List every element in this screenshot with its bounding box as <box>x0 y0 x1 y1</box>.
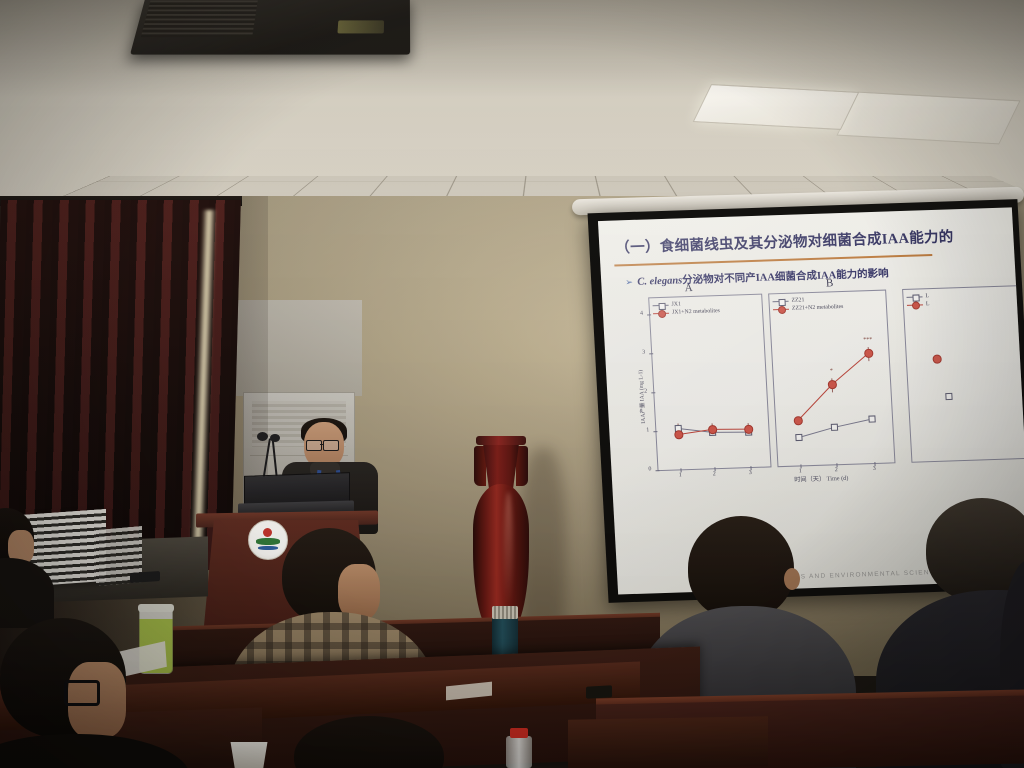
vase-lip <box>476 436 526 445</box>
legend-label: ZZ21+N2 metabolites <box>792 303 844 313</box>
data-point-circle <box>744 425 753 434</box>
x-tick-label: 2 <box>713 471 716 477</box>
open-square-icon <box>658 302 665 309</box>
data-point-circle <box>828 380 837 389</box>
data-point-square <box>831 424 838 431</box>
panel-c-legend: L L <box>906 292 929 309</box>
bottle-cap <box>510 728 528 738</box>
ear <box>784 568 800 590</box>
panel-c-plot-area <box>902 285 1024 463</box>
y-tick-label: 3 <box>642 350 645 356</box>
legend-line-filled-circle <box>653 312 669 314</box>
significance-marker: *** <box>863 337 872 343</box>
data-point-square <box>795 434 802 441</box>
legend-line-filled-circle <box>907 304 923 306</box>
slide-title: （一）食细菌线虫及其分泌物对细菌合成IAA能力的 <box>615 223 1020 257</box>
chart-panels: A 0 1 2 3 4 <box>618 285 1024 528</box>
data-point-circle <box>794 416 803 425</box>
audience-member-glasses-foreground <box>0 618 170 768</box>
legend-label: L <box>926 300 930 308</box>
device-on-bench[interactable] <box>586 685 612 698</box>
chart-panel-c: L L <box>900 285 1024 475</box>
panel-b-x-axis-label: 时间（天） Time (d) <box>794 473 849 484</box>
conference-room-photo: （一）食细菌线虫及其分泌物对细菌合成IAA能力的 ➢ C. elegans分泌物… <box>0 0 1024 768</box>
y-tick-label: 0 <box>648 466 651 472</box>
glasses-icon <box>323 440 339 451</box>
data-point-circle <box>864 349 873 358</box>
filled-circle-icon <box>778 306 786 314</box>
water-bottle[interactable] <box>506 736 532 768</box>
legend-line-filled-circle <box>773 308 789 310</box>
head <box>294 716 444 768</box>
glasses-icon <box>64 680 100 706</box>
filled-circle-icon <box>912 301 920 309</box>
projector-vent <box>141 1 258 38</box>
legend-line-open-square <box>773 300 789 302</box>
open-square-icon <box>778 298 785 305</box>
panel-a-legend: JX1 JX1+N2 metabolites <box>652 299 720 317</box>
x-tick-label: 1 <box>679 472 682 478</box>
shoulders <box>0 734 190 768</box>
panel-a-y-axis-label: IAA产量 IAA (mg L-1) <box>636 370 647 424</box>
data-point-circle <box>932 354 941 363</box>
data-point-square <box>868 415 875 422</box>
x-tick-label: 3 <box>873 466 876 472</box>
x-tick-label: 3 <box>749 470 752 476</box>
glasses-icon <box>306 440 322 451</box>
filled-circle-icon <box>658 310 666 318</box>
thermos-cap <box>492 606 518 619</box>
chart-panel-b: B 1 2 3 <box>766 289 904 479</box>
chair-back-right <box>568 716 768 768</box>
legend-label: JX1+N2 metabolites <box>672 307 720 317</box>
y-tick <box>656 470 660 471</box>
projector-lens <box>337 20 384 33</box>
panel-b-legend: ZZ21 ZZ21+N2 metabolites <box>772 295 843 313</box>
device-on-desk[interactable] <box>130 571 160 583</box>
significance-marker: * <box>830 368 833 374</box>
glasses-bridge <box>320 444 324 445</box>
legend-line-open-square <box>906 296 922 298</box>
data-point-circle <box>708 425 717 434</box>
open-square-icon <box>912 294 919 301</box>
ceiling-projector <box>130 0 410 55</box>
legend-label: L <box>925 292 929 300</box>
panel-a-plot-area: 0 1 2 3 4 1 2 3 <box>648 294 771 472</box>
y-tick-label: 4 <box>640 311 643 317</box>
data-point-circle <box>674 430 683 439</box>
panel-b-plot-area: 1 2 3 <box>768 290 895 468</box>
white-cup[interactable] <box>228 742 270 768</box>
microphone-icon <box>257 432 268 441</box>
audience-member-edge-left <box>0 508 54 608</box>
data-point-square <box>945 393 952 400</box>
y-axis-label-text: IAA产量 IAA (mg L-1) <box>638 370 647 424</box>
y-tick-label: 1 <box>646 427 649 433</box>
panel-a-lines <box>649 295 770 470</box>
chart-panel-a: A 0 1 2 3 4 <box>618 294 770 484</box>
cup-lid <box>138 604 174 612</box>
legend-line-open-square <box>653 304 669 306</box>
vase-highlight <box>504 492 513 610</box>
legend-entry: L <box>907 300 930 309</box>
head <box>688 516 794 620</box>
audience-member-bottom-center <box>294 716 444 768</box>
microphone-icon-secondary <box>270 434 280 442</box>
